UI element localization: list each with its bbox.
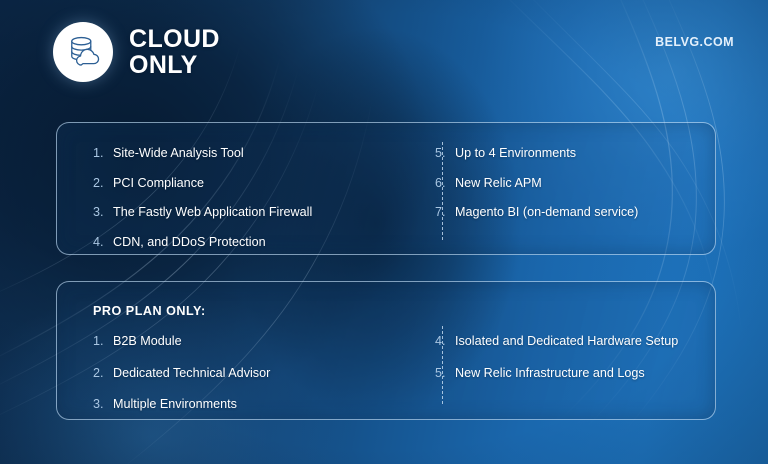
logo-badge: [53, 22, 113, 82]
page-title: CLOUD ONLY: [129, 26, 220, 78]
cloud-only-card-inner: 1. Site-Wide Analysis Tool 2. PCI Compli…: [57, 123, 715, 254]
pro-plan-left-column: 1. B2B Module 2. Dedicated Technical Adv…: [57, 333, 386, 428]
list-item-label: Site-Wide Analysis Tool: [113, 145, 244, 162]
list-item-number: 3.: [93, 396, 108, 413]
cloud-database-icon: [64, 33, 102, 71]
cloud-only-column-divider: [442, 142, 443, 240]
list-item: 3. The Fastly Web Application Firewall: [93, 204, 386, 221]
cloud-only-columns: 1. Site-Wide Analysis Tool 2. PCI Compli…: [57, 145, 715, 263]
cloud-only-left-column: 1. Site-Wide Analysis Tool 2. PCI Compli…: [57, 145, 386, 263]
list-item: 2. Dedicated Technical Advisor: [93, 365, 386, 382]
pro-plan-columns: 1. B2B Module 2. Dedicated Technical Adv…: [57, 333, 715, 428]
brand-lockup: CLOUD ONLY: [53, 22, 220, 82]
list-item-number: 4.: [93, 234, 108, 251]
pro-plan-card-inner: PRO PLAN ONLY: 1. B2B Module 2. Dedicate…: [57, 282, 715, 419]
list-item-label: Multiple Environments: [113, 396, 237, 413]
list-item-label: The Fastly Web Application Firewall: [113, 204, 312, 221]
pro-plan-left-list: 1. B2B Module 2. Dedicated Technical Adv…: [93, 333, 386, 413]
list-item-label: B2B Module: [113, 333, 182, 350]
list-item: 1. B2B Module: [93, 333, 386, 350]
pro-plan-column-divider: [442, 326, 443, 404]
list-item: 3. Multiple Environments: [93, 396, 386, 413]
list-item: 2. PCI Compliance: [93, 175, 386, 192]
cloud-only-right-list: 5. Up to 4 Environments 6. New Relic APM…: [435, 145, 715, 221]
pro-plan-heading: PRO PLAN ONLY:: [93, 304, 206, 318]
list-item: 5. New Relic Infrastructure and Logs: [435, 365, 715, 382]
cloud-only-left-list: 1. Site-Wide Analysis Tool 2. PCI Compli…: [93, 145, 386, 250]
cloud-only-card: 1. Site-Wide Analysis Tool 2. PCI Compli…: [56, 122, 716, 255]
list-item-label: Dedicated Technical Advisor: [113, 365, 270, 382]
list-item-number: 1.: [93, 145, 108, 162]
list-item-number: 1.: [93, 333, 108, 350]
list-item-label: Up to 4 Environments: [455, 145, 576, 162]
list-item-number: 3.: [93, 204, 108, 221]
list-item: 6. New Relic APM: [435, 175, 715, 192]
pro-plan-card: PRO PLAN ONLY: 1. B2B Module 2. Dedicate…: [56, 281, 716, 420]
list-item-label: CDN, and DDoS Protection: [113, 234, 266, 251]
header: CLOUD ONLY BELVG.COM: [0, 0, 768, 118]
list-item-label: Isolated and Dedicated Hardware Setup: [455, 333, 678, 350]
list-item: 4. Isolated and Dedicated Hardware Setup: [435, 333, 715, 350]
pro-plan-right-column: 4. Isolated and Dedicated Hardware Setup…: [386, 333, 715, 428]
list-item-label: Magento BI (on-demand service): [455, 204, 638, 221]
list-item-label: New Relic Infrastructure and Logs: [455, 365, 645, 382]
cloud-only-right-column: 5. Up to 4 Environments 6. New Relic APM…: [386, 145, 715, 263]
list-item: 4. CDN, and DDoS Protection: [93, 234, 386, 251]
list-item: 1. Site-Wide Analysis Tool: [93, 145, 386, 162]
list-item-label: PCI Compliance: [113, 175, 204, 192]
list-item-number: 2.: [93, 175, 108, 192]
site-url-label: BELVG.COM: [655, 35, 734, 49]
list-item: 5. Up to 4 Environments: [435, 145, 715, 162]
list-item: 7. Magento BI (on-demand service): [435, 204, 715, 221]
pro-plan-right-list: 4. Isolated and Dedicated Hardware Setup…: [435, 333, 715, 381]
list-item-number: 2.: [93, 365, 108, 382]
slide-root: CLOUD ONLY BELVG.COM 1. Site-Wide Analys…: [0, 0, 768, 464]
list-item-label: New Relic APM: [455, 175, 542, 192]
